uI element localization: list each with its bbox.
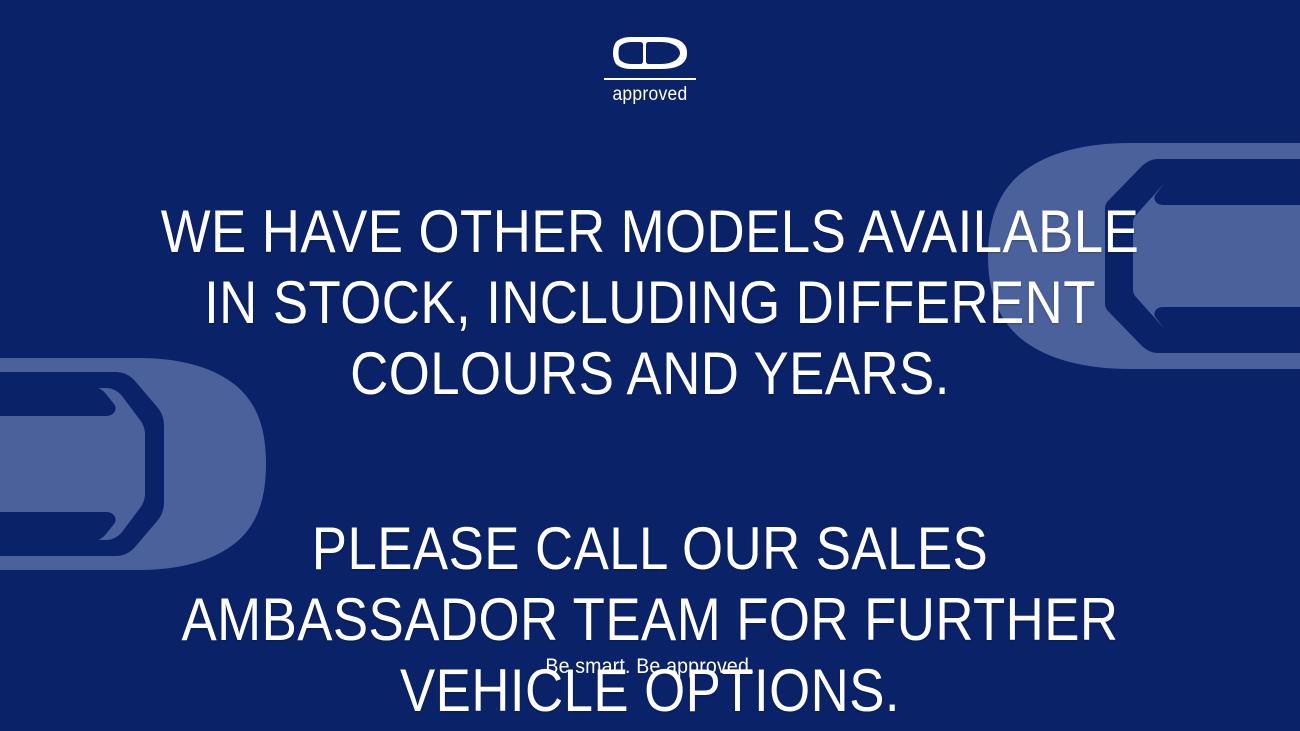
promo-slide: approved WE HAVE OTHER MODELS AVAILABLE … [0,0,1300,731]
brand-logo: approved [0,36,1300,104]
headline-primary: WE HAVE OTHER MODELS AVAILABLE IN STOCK,… [157,196,1143,409]
logo-divider [604,78,696,80]
brand-tagline: Be smart. Be approved. [46,655,1255,679]
logo-wordmark: approved [52,85,1248,104]
headline-secondary: PLEASE CALL OUR SALES AMBASSADOR TEAM FO… [157,513,1143,726]
approved-car-logo-icon [613,36,687,70]
headline-copy: WE HAVE OTHER MODELS AVAILABLE IN STOCK,… [0,196,1300,726]
